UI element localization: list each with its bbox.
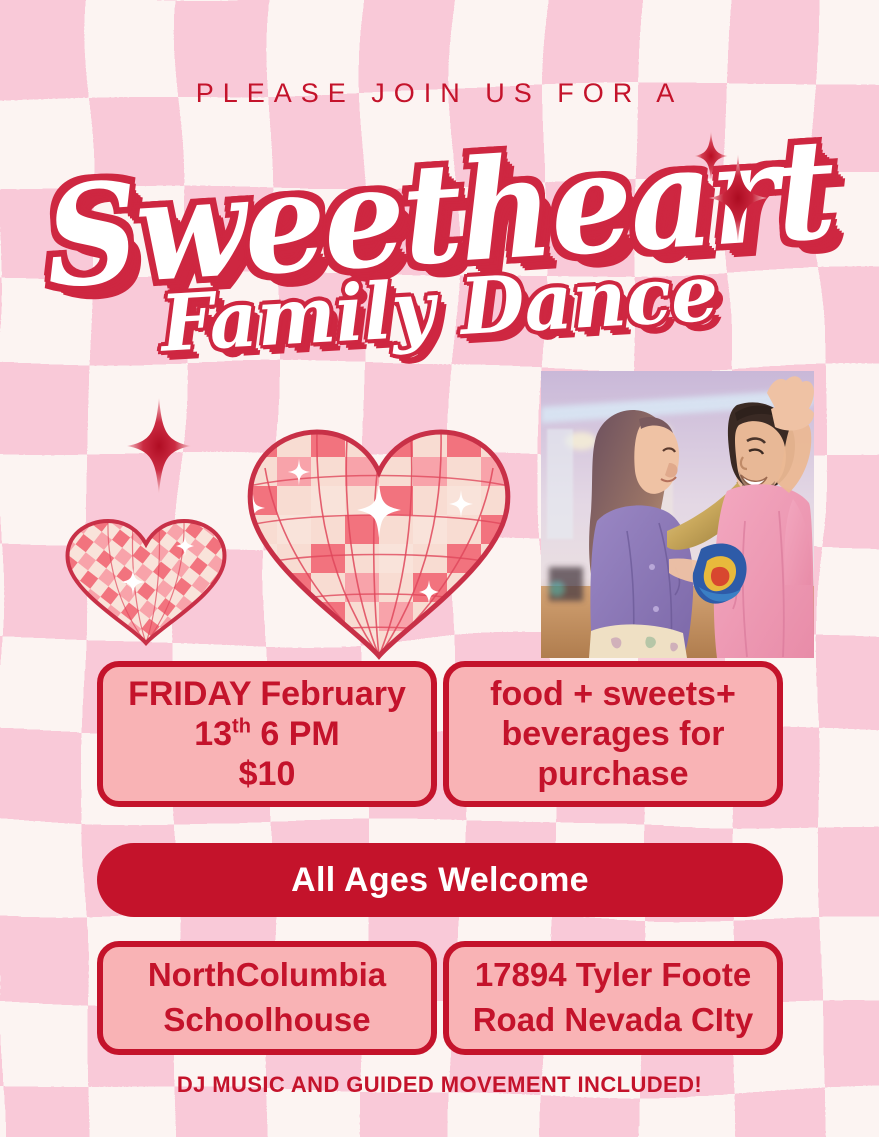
sparkle-icon: [122, 398, 196, 494]
all-ages-banner: All Ages Welcome: [97, 843, 783, 917]
address-box: 17894 Tyler Foote Road Nevada CIty: [443, 941, 783, 1055]
food-box: food + sweets+ beverages for purchase: [443, 661, 783, 807]
datetime-price: $10: [239, 755, 296, 793]
disco-heart-icon: [243, 428, 515, 660]
couple-dancing-photo: [541, 371, 814, 658]
sparkle-icon: [709, 154, 767, 242]
footer-text: DJ MUSIC AND GUIDED MOVEMENT INCLUDED!: [0, 1072, 879, 1098]
datetime-time: 6 PM: [251, 715, 340, 753]
flyer-poster: PLEASE JOIN US FOR A: [0, 0, 879, 1137]
venue-box: NorthColumbia Schoolhouse: [97, 941, 437, 1055]
info-row-venue: NorthColumbia Schoolhouse 17894 Tyler Fo…: [97, 941, 783, 1055]
disco-heart-small-icon: [63, 518, 229, 646]
datetime-line1: FRIDAY February: [128, 675, 406, 713]
info-row-datetime: FRIDAY February 13th 6 PM $10 food + swe…: [97, 661, 783, 807]
datetime-day-suffix: th: [232, 716, 251, 738]
kicker-text: PLEASE JOIN US FOR A: [0, 78, 879, 109]
datetime-day: 13: [194, 715, 232, 753]
datetime-box: FRIDAY February 13th 6 PM $10: [97, 661, 437, 807]
